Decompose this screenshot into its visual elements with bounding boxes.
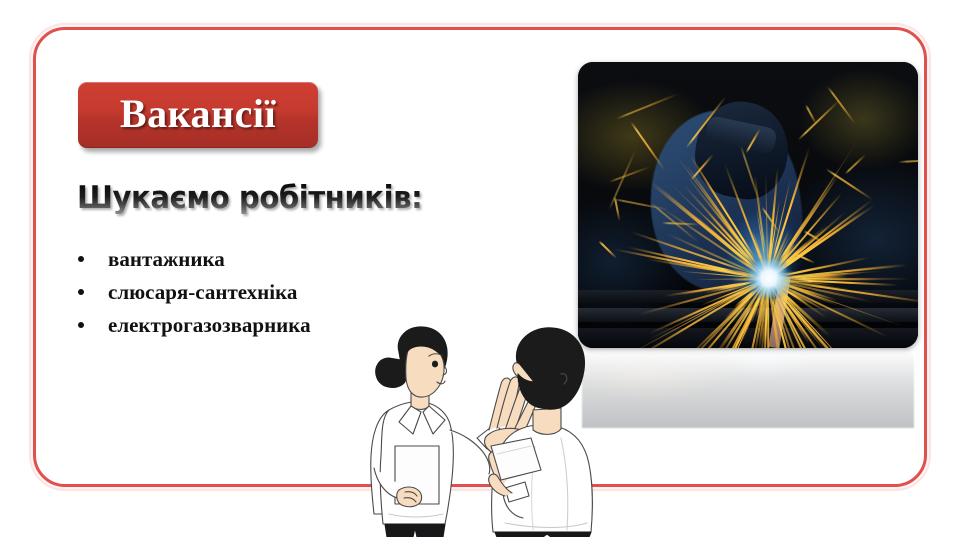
- welding-arc-core: [746, 258, 792, 298]
- slide-canvas: Вакансії Шукаємо робітників: вантажника …: [0, 0, 960, 537]
- list-item-label: слюсаря-сантехніка: [108, 280, 297, 304]
- list-item: електрогазозварника: [74, 314, 311, 336]
- list-item-label: вантажника: [108, 247, 225, 271]
- welding-photo-container: [578, 62, 918, 348]
- list-item: вантажника: [74, 248, 311, 270]
- list-item: слюсаря-сантехніка: [74, 281, 311, 303]
- spark: [782, 278, 910, 280]
- two-people-illustration: [355, 318, 605, 537]
- photo-reflection-fade: [582, 350, 914, 428]
- badge-label: Вакансії: [120, 94, 276, 137]
- vacancies-badge[interactable]: Вакансії: [78, 82, 318, 148]
- spark: [767, 298, 769, 348]
- metal-bar: [578, 328, 918, 348]
- list-item-label: електрогазозварника: [108, 313, 311, 337]
- page-title: Шукаємо робітників:: [77, 183, 422, 214]
- photo-reflection: [582, 350, 914, 428]
- badge-plate[interactable]: Вакансії: [78, 82, 318, 148]
- job-list: вантажника слюсаря-сантехніка електрогаз…: [74, 248, 311, 347]
- welding-photo: [578, 62, 918, 348]
